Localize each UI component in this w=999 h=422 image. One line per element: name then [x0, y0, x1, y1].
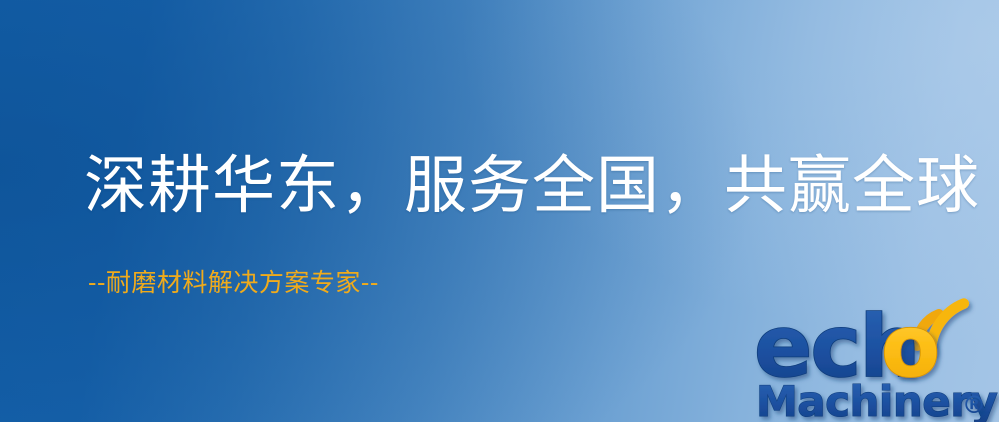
registered-trademark-icon: ®	[962, 391, 986, 419]
banner-subtitle: --耐磨材料解决方案专家--	[88, 268, 379, 298]
banner-headline: 深耕华东，服务全国，共赢全球	[84, 152, 980, 220]
echo-machinery-logo[interactable]: ech o Machinery ®	[748, 296, 999, 422]
promo-banner: 深耕华东，服务全国，共赢全球 --耐磨材料解决方案专家--	[0, 0, 999, 422]
logo-artwork: ech o Machinery ®	[748, 296, 999, 422]
